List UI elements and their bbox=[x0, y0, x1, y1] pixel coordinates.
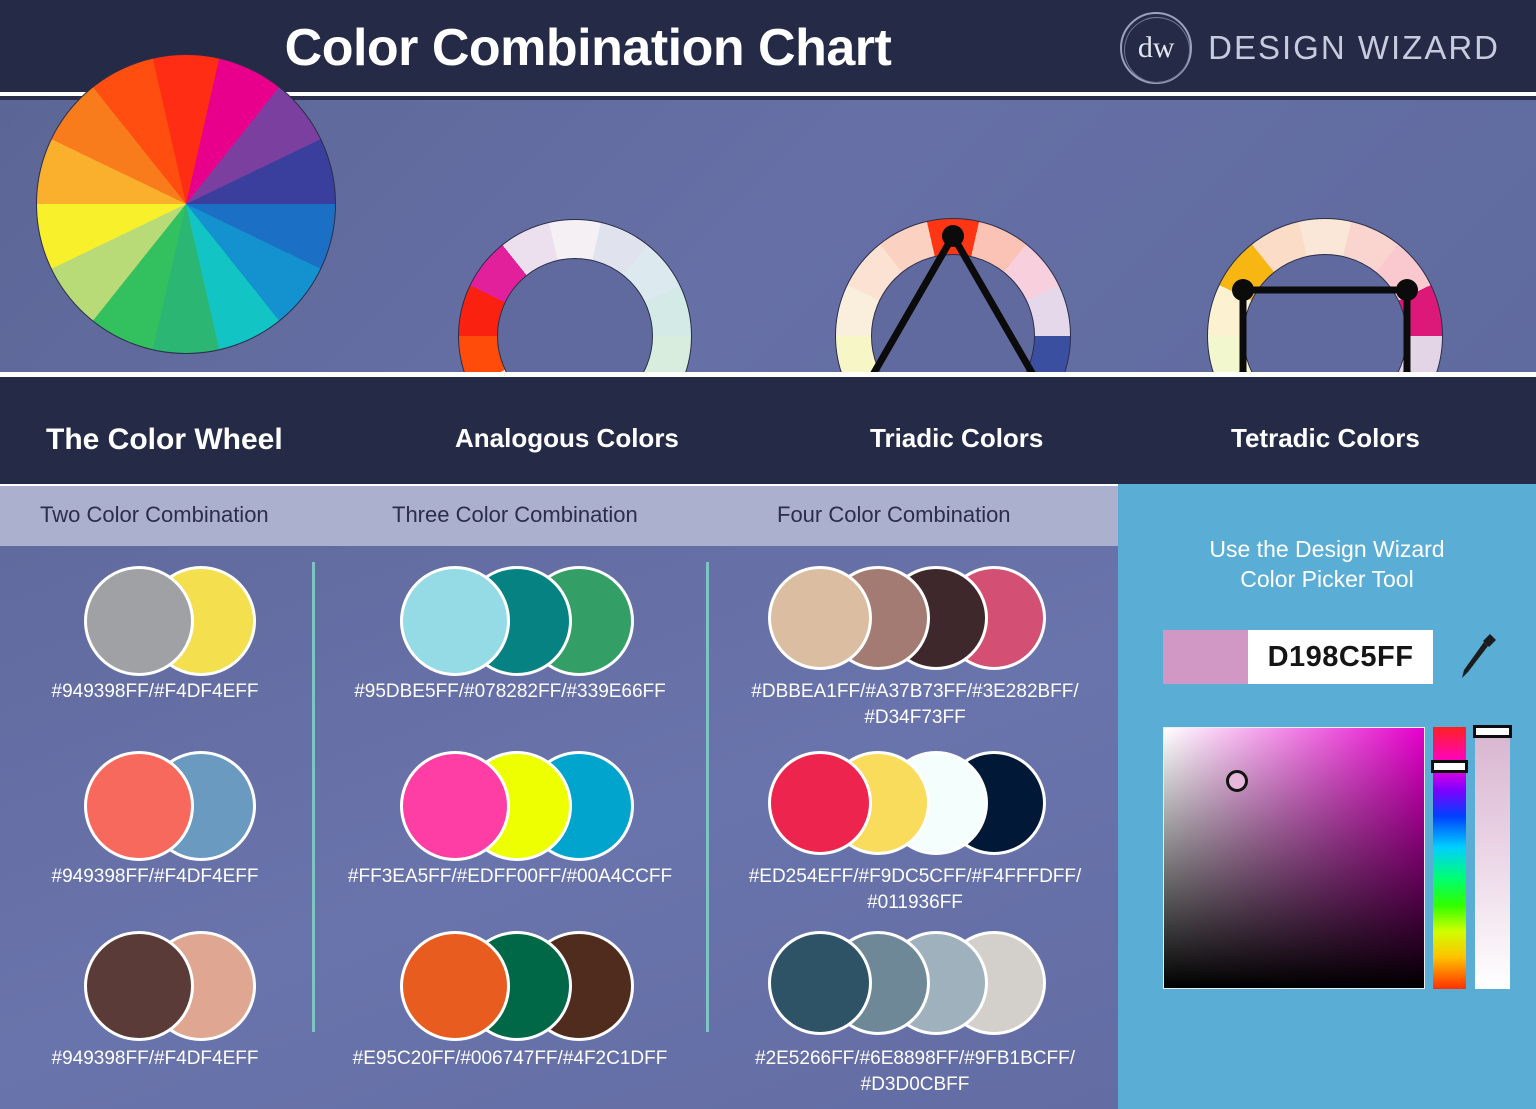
wheel-label-2: Analogous Colors bbox=[455, 423, 679, 454]
swatch-hex-label: #E95C20FF/#006747FF/#4F2C1DFF bbox=[310, 1046, 710, 1072]
picker-title: Use the Design Wizard Color Picker Tool bbox=[1118, 534, 1536, 594]
saturation-value-square[interactable] bbox=[1163, 727, 1425, 989]
color-swatch bbox=[400, 931, 510, 1041]
combination-header-1: Two Color Combination bbox=[40, 502, 269, 528]
swatch-hex-label: #949398FF/#F4DF4EFF bbox=[0, 679, 310, 705]
color-swatch bbox=[768, 566, 872, 670]
color-swatch bbox=[400, 751, 510, 861]
wheel-label-4: Tetradic Colors bbox=[1231, 423, 1420, 454]
color-wheels-band bbox=[0, 100, 1536, 372]
swatch-hex-label-line2: #D34F73FF bbox=[712, 705, 1118, 731]
swatch-hex-label: #ED254EFF/#F9DC5CFF/#F4FFFDFF/#011936FF bbox=[712, 864, 1118, 916]
color-swatch bbox=[400, 566, 510, 676]
hex-value-text[interactable]: D198C5FF bbox=[1248, 630, 1433, 684]
color-swatch bbox=[84, 751, 194, 861]
swatch-hex-label: #DBBEA1FF/#A37B73FF/#3E282BFF/#D34F73FF bbox=[712, 679, 1118, 731]
sv-cursor-handle[interactable] bbox=[1226, 770, 1248, 792]
picker-title-line1: Use the Design Wizard bbox=[1118, 534, 1536, 564]
swatch-hex-label-line2: #011936FF bbox=[712, 890, 1118, 916]
logo-wordmark: DESIGN WIZARD bbox=[1208, 29, 1500, 67]
color-swatch bbox=[84, 931, 194, 1041]
wheel-label-3: Triadic Colors bbox=[870, 423, 1043, 454]
brand-logo: dw DESIGN WIZARD bbox=[1120, 12, 1500, 84]
swatch-hex-label: #FF3EA5FF/#EDFF00FF/#00A4CCFF bbox=[310, 864, 710, 890]
dw-circle-icon: dw bbox=[1120, 12, 1192, 84]
logo-monogram: dw bbox=[1138, 31, 1175, 65]
combination-header-3: Four Color Combination bbox=[777, 502, 1011, 528]
swatch-hex-label: #2E5266FF/#6E8898FF/#9FB1BCFF/#D3D0CBFF bbox=[712, 1046, 1118, 1098]
color-wheel-1 bbox=[36, 54, 336, 354]
color-swatch bbox=[84, 566, 194, 676]
combination-header-2: Three Color Combination bbox=[392, 502, 638, 528]
color-swatch bbox=[768, 931, 872, 1035]
swatch-hex-label-line2: #D3D0CBFF bbox=[712, 1072, 1118, 1098]
column-divider bbox=[312, 562, 315, 1032]
hue-slider-handle[interactable] bbox=[1431, 760, 1468, 773]
swatch-hex-label: #949398FF/#F4DF4EFF bbox=[0, 864, 310, 890]
alpha-slider[interactable] bbox=[1475, 727, 1510, 989]
current-color-swatch bbox=[1163, 630, 1248, 684]
eyedropper-icon[interactable] bbox=[1456, 628, 1502, 686]
color-picker-panel: Use the Design Wizard Color Picker Tool … bbox=[1118, 484, 1536, 1109]
infographic-page: Color Combination Chart dw DESIGN WIZARD… bbox=[0, 0, 1536, 1109]
swatch-hex-label: #949398FF/#F4DF4EFF bbox=[0, 1046, 310, 1072]
combinations-area: Two Color Combination#949398FF/#F4DF4EFF… bbox=[0, 484, 1118, 1109]
color-swatch bbox=[768, 751, 872, 855]
swatch-hex-label: #95DBE5FF/#078282FF/#339E66FF bbox=[310, 679, 710, 705]
wheel-labels-band: The Color WheelAnalogous ColorsTriadic C… bbox=[0, 372, 1536, 484]
hex-value-field[interactable]: D198C5FF bbox=[1163, 630, 1433, 684]
column-divider bbox=[706, 562, 709, 1032]
alpha-slider-handle[interactable] bbox=[1473, 725, 1512, 738]
wheel-label-1: The Color Wheel bbox=[46, 423, 283, 457]
picker-title-line2: Color Picker Tool bbox=[1118, 564, 1536, 594]
